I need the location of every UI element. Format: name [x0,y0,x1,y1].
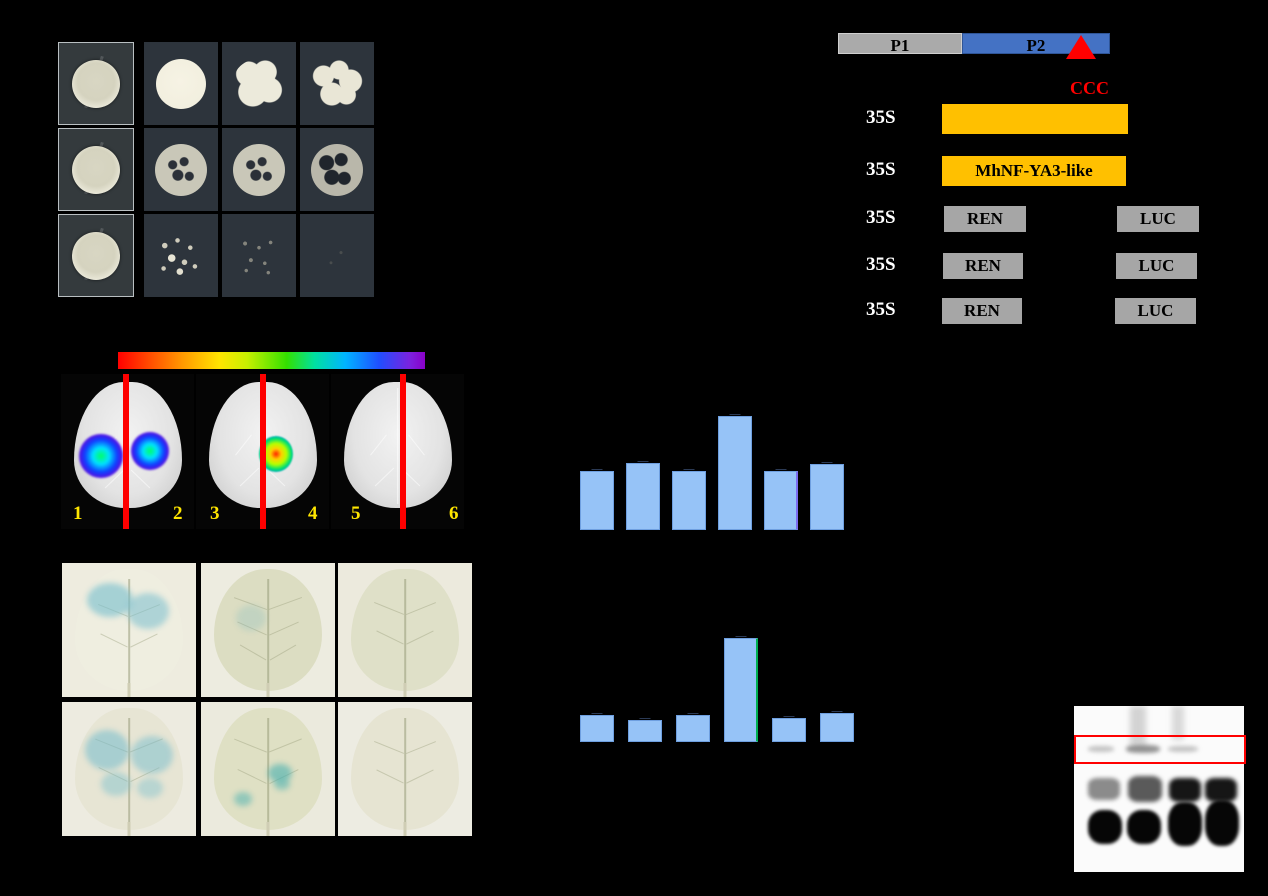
leaf-vein [239,468,258,487]
gus-leaf-cell-2 [201,563,335,697]
leaf-vein [237,769,267,784]
yeast-colony [72,146,120,194]
construct-row-effector-empty: 35S [866,104,1266,134]
free-probe-band [1127,810,1161,844]
gus-leaf-cell-4 [62,702,196,836]
leaf-vein [269,621,299,635]
bar-5 [772,718,806,742]
gus-stain-region [101,772,131,796]
leaf-vein [130,470,149,489]
leaf-midrib [128,718,130,823]
gus-leaf [351,569,459,691]
construct-row-reporter-3: 35S REN LUC [866,298,1266,324]
yeast-spot [230,230,288,282]
leaf-vein [376,770,404,784]
leaf-vein [100,633,128,647]
yeast-plate-row-3 [58,214,134,297]
bar-6 [820,713,854,742]
leaf-vein [408,434,425,455]
gel-band [1128,776,1162,802]
promoter-35s-label: 35S [866,299,896,321]
gus-stain-region [85,730,129,770]
gus-stain-region [137,778,163,798]
free-probe-band [1205,800,1239,846]
reporter-box-luc: LUC [1116,253,1197,279]
yeast-spot [156,59,206,109]
gus-stain-region [234,792,252,806]
leaf-vein [269,597,302,610]
leaf-number-1: 1 [73,504,83,523]
reporter-box-ren: REN [944,206,1026,232]
leaf-number-6: 6 [449,504,459,523]
gel-band [1169,778,1201,802]
error-bar [730,414,741,418]
error-bar [735,636,746,640]
leaf-vein [235,434,252,455]
bar-3 [676,715,710,742]
leaf-number-4: 4 [308,504,318,523]
reporter-box-luc: LUC [1117,206,1199,232]
leaf-midrib [404,579,406,684]
free-probe-band [1088,810,1122,844]
bar-4 [718,416,752,530]
yeast-dilution-cell [144,128,218,211]
error-bar [832,711,843,715]
panel-divider-line [260,374,266,529]
error-bar [592,469,603,473]
bar-chart-upper [580,405,850,530]
bar-chart-lower [580,628,860,742]
yeast-growth-assay-panel [58,42,380,302]
gus-leaf-cell-6 [338,702,472,836]
leaf-number-3: 3 [210,504,220,523]
leaf-number-2: 2 [173,504,183,523]
error-bar [784,716,795,720]
luminescence-signal [131,432,169,470]
yeast-plate-row-2 [58,128,134,211]
luc-leaf-image-2: 3 4 [196,374,329,529]
error-bar [592,713,603,717]
reporter-box-ren: REN [942,298,1022,324]
effector-box-mhnfya3like: MhNF-YA3-like [942,156,1126,186]
panel-divider-line [123,374,129,529]
free-probe-band [1168,802,1202,846]
leaf-vein [374,741,404,754]
error-bar [638,461,649,465]
error-bar [822,462,833,466]
leaf-vein [239,644,266,660]
gus-leaf [351,708,459,830]
emsa-gel-image [1074,706,1244,872]
yeast-spot [317,239,357,273]
yeast-spot [233,59,285,109]
gus-stain-region [274,778,290,790]
yeast-dilution-cell [300,128,374,211]
yeast-plate-row-1 [58,42,134,125]
yeast-plate-column [58,42,134,302]
leaf-vein [406,631,434,645]
gus-leaf [75,708,183,830]
yeast-spot [155,144,207,196]
yeast-dilution-cell [300,42,374,125]
reporter-box-ren: REN [943,253,1023,279]
leaf-silhouette [344,382,452,508]
gus-leaf-cell-1 [62,563,196,697]
error-bar [688,713,699,717]
promoter-segment-p1: P1 [838,33,962,54]
bar-3 [672,471,706,530]
yeast-colony [72,232,120,280]
promoter-35s-label: 35S [866,207,896,229]
gus-stain-region [236,605,266,631]
promoter-35s-label: 35S [866,254,896,276]
error-bar [775,469,786,473]
leaf-vein [374,602,404,615]
luminescence-colorbar [118,352,425,369]
yeast-dilution-cell [222,42,296,125]
bar-2 [626,463,660,530]
promoter-35s-label: 35S [866,159,896,181]
leaf-vein [270,644,297,660]
gus-leaf [214,708,322,830]
bar-2 [628,720,662,742]
bar-1 [580,471,614,530]
construct-row-effector: 35S MhNF-YA3-like [866,156,1266,186]
yeast-spot [311,59,363,109]
yeast-spot [233,144,285,196]
luc-leaf-image-3: 5 6 [331,374,464,529]
yeast-dilution-cell [144,214,218,297]
leaf-midrib [404,718,406,823]
leaf-vein [370,434,387,455]
gel-band [1088,778,1120,800]
error-bar [640,718,651,722]
effector-box-empty [942,104,1128,134]
yeast-dilution-cell [300,214,374,297]
bar-5 [764,471,798,530]
yeast-dilution-cell [222,128,296,211]
panel-divider-line [400,374,406,529]
gus-leaf-cell-3 [338,563,472,697]
bar-4 [724,638,758,742]
leaf-vein [269,738,301,752]
gus-leaf [214,569,322,691]
leaf-vein [376,631,404,645]
gus-leaf-cell-5 [201,702,335,836]
leaf-vein [234,738,266,752]
leaf-vein [406,770,434,784]
leaf-vein [130,633,158,647]
yeast-dilution-cell [222,214,296,297]
ccc-marker-triangle-icon [1066,35,1096,59]
ccc-label: CCC [1070,78,1109,99]
bar-6 [810,464,844,530]
gus-stain-region [127,593,169,629]
luc-leaf-image-1: 1 2 [61,374,194,529]
leaf-number-5: 5 [351,504,361,523]
construct-row-reporter-1: 35S REN LUC [866,206,1266,232]
leaf-midrib [267,579,269,684]
gus-stain-region [131,736,173,774]
error-bar [684,469,695,473]
construct-row-reporter-2: 35S REN LUC [866,253,1266,279]
yeast-colony [72,60,120,108]
leaf-vein [406,741,436,754]
reporter-box-luc: LUC [1115,298,1196,324]
promoter-p1-label: P1 [839,36,961,56]
luminescence-signal [79,434,123,478]
gel-band [1205,778,1237,802]
promoter-35s-label: 35S [866,107,896,129]
yeast-spot [311,144,363,196]
gus-leaf [75,569,183,691]
bar-1 [580,715,614,742]
yeast-spot [152,230,210,282]
leaf-vein [374,468,393,487]
leaf-vein [406,602,436,615]
emsa-highlight-box [1074,735,1246,764]
yeast-dilution-cell [144,42,218,125]
